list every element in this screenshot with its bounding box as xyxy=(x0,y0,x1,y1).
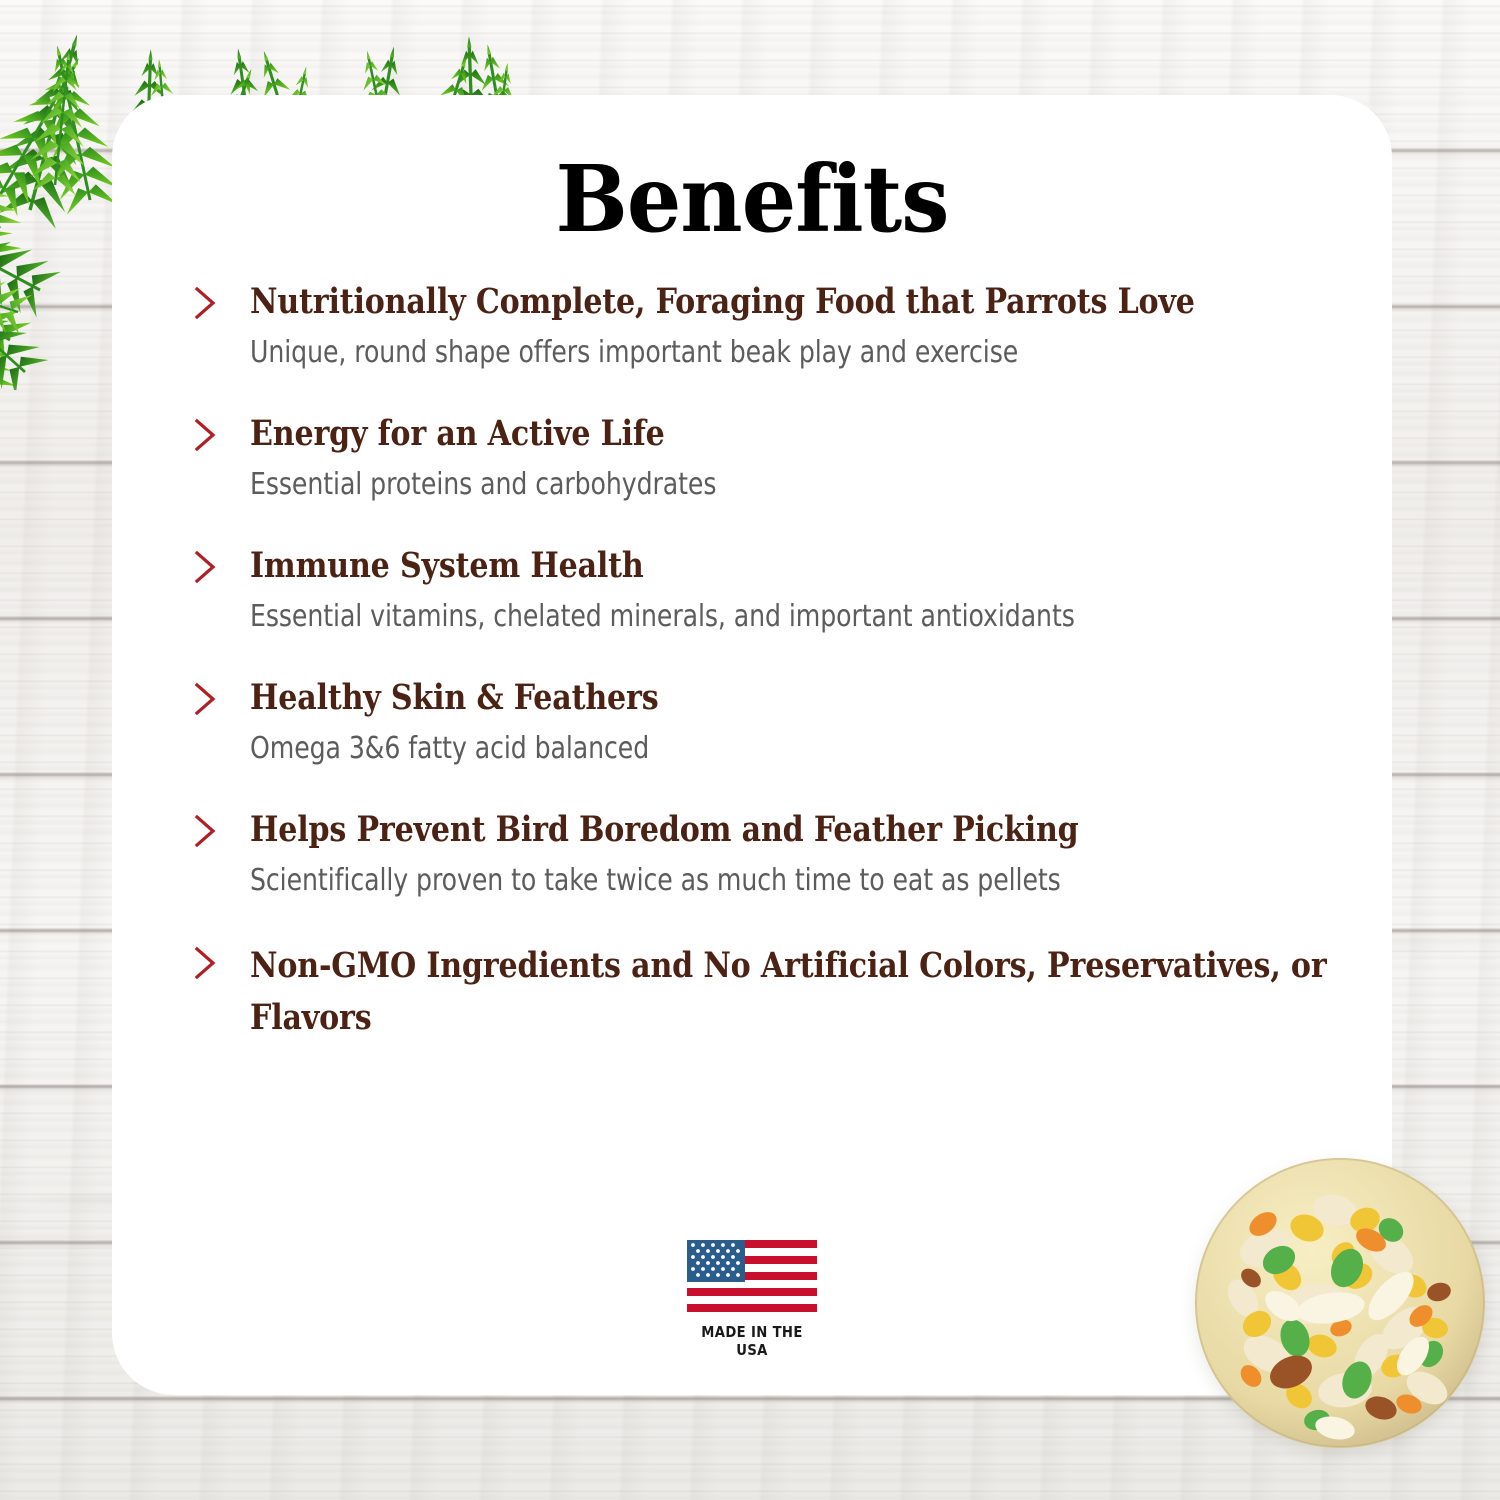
benefit-subtext: Scientifically proven to take twice as m… xyxy=(250,862,1370,900)
list-item: Non-GMO Ingredients and No Artificial Co… xyxy=(190,940,1370,1044)
benefits-list: Nutritionally Complete, Foraging Food th… xyxy=(190,280,1370,1044)
chevron-right-icon xyxy=(193,418,219,452)
benefit-subtext: Essential proteins and carbohydrates xyxy=(250,466,1370,504)
list-item: Healthy Skin & Feathers Omega 3&6 fatty … xyxy=(190,676,1370,768)
benefit-subtext: Essential vitamins, chelated minerals, a… xyxy=(250,598,1370,636)
benefit-subtext: Unique, round shape offers important bea… xyxy=(250,334,1370,372)
benefit-heading: Nutritionally Complete, Foraging Food th… xyxy=(250,280,1367,324)
usa-flag-icon xyxy=(687,1240,817,1316)
chevron-right-icon xyxy=(193,946,219,980)
benefit-heading: Energy for an Active Life xyxy=(250,412,1367,456)
chevron-right-icon xyxy=(193,814,219,848)
bird-food-foraging-ball xyxy=(1195,1158,1485,1448)
badge-label: MADE IN THE USA xyxy=(688,1323,816,1359)
benefit-heading: Non-GMO Ingredients and No Artificial Co… xyxy=(250,940,1367,1044)
benefit-heading: Helps Prevent Bird Boredom and Feather P… xyxy=(250,808,1367,852)
chevron-right-icon xyxy=(193,286,219,320)
page-title: Benefits xyxy=(157,145,1347,253)
benefit-subtext: Omega 3&6 fatty acid balanced xyxy=(250,730,1370,768)
chevron-right-icon xyxy=(193,682,219,716)
status-badge: MADE IN THE USA xyxy=(679,1240,825,1359)
chevron-right-icon xyxy=(193,550,219,584)
benefits-card: Benefits Nutritionally Complete, Foragin… xyxy=(112,95,1392,1395)
benefit-heading: Healthy Skin & Feathers xyxy=(250,676,1367,720)
benefits-infographic: Benefits Nutritionally Complete, Foragin… xyxy=(0,0,1500,1500)
benefit-heading: Immune System Health xyxy=(250,544,1367,588)
list-item: Nutritionally Complete, Foraging Food th… xyxy=(190,280,1370,372)
list-item: Helps Prevent Bird Boredom and Feather P… xyxy=(190,808,1370,900)
list-item: Energy for an Active Life Essential prot… xyxy=(190,412,1370,504)
list-item: Immune System Health Essential vitamins,… xyxy=(190,544,1370,636)
